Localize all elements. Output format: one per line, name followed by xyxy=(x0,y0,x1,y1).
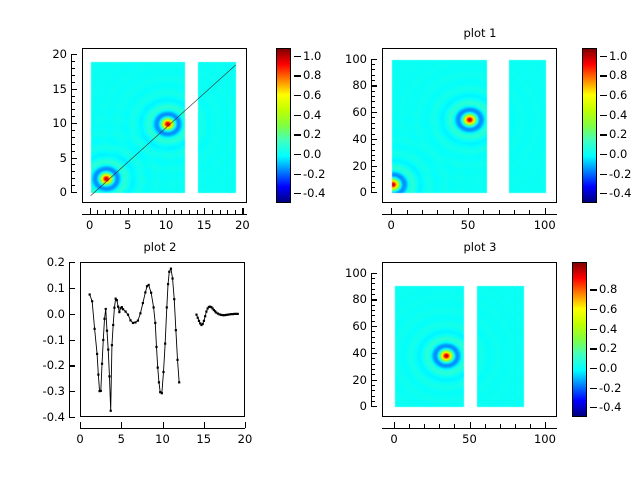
data-point-marker xyxy=(105,308,107,310)
axis-tick xyxy=(371,326,377,327)
axis-tick xyxy=(204,208,205,214)
axis-tick xyxy=(371,278,375,279)
colorbar-tick-label: 0.2 xyxy=(599,341,617,355)
axis-tick xyxy=(514,210,515,214)
axis-tick xyxy=(600,95,607,96)
axis-tick xyxy=(71,164,75,165)
data-point-marker xyxy=(137,320,139,322)
plot-2-axes xyxy=(80,262,245,417)
axis-tick xyxy=(69,365,75,366)
axis-tick xyxy=(371,91,375,92)
x-tick-label: 0 xyxy=(76,432,83,446)
axis-tick xyxy=(439,424,440,428)
subplot-panel-0: 0510152005101520 1.00.80.60.40.20.0-0.2-… xyxy=(0,0,320,240)
axis-tick xyxy=(113,210,114,214)
data-point-marker xyxy=(144,291,146,293)
data-point-marker xyxy=(122,308,124,310)
y-tick-label: 40 xyxy=(329,132,367,146)
axis-tick xyxy=(121,422,122,428)
axis-tick xyxy=(371,59,372,193)
axis-tick xyxy=(371,337,375,338)
axis-tick xyxy=(71,185,75,186)
x-tick-label: 100 xyxy=(534,218,556,232)
axis-tick xyxy=(371,107,375,108)
axis-tick xyxy=(590,289,597,290)
axis-tick xyxy=(69,391,75,392)
data-point-marker xyxy=(91,300,93,302)
x-tick-label: 15 xyxy=(196,432,211,446)
axis-tick xyxy=(294,95,301,96)
axis-tick xyxy=(371,273,372,407)
axis-tick xyxy=(71,137,75,138)
data-point-marker xyxy=(178,381,180,383)
data-point-marker xyxy=(134,321,136,323)
axis-tick xyxy=(371,123,375,124)
subplot-panel-3: plot 3 050100020406080100 0.80.60.40.20.… xyxy=(320,240,640,480)
plot-1-title: plot 1 xyxy=(320,26,640,40)
data-point-marker xyxy=(195,314,197,316)
axis-tick xyxy=(69,288,75,289)
plot-3-axes xyxy=(382,262,557,417)
axis-tick xyxy=(371,171,375,172)
colorbar-tick-label: 0.8 xyxy=(599,282,617,296)
data-point-marker xyxy=(142,302,144,304)
data-point-marker xyxy=(121,306,123,308)
x-tick-label: 20 xyxy=(235,218,250,232)
data-point-marker xyxy=(118,311,120,313)
axis-tick xyxy=(97,210,98,214)
axis-tick xyxy=(590,388,597,389)
axis-tick xyxy=(371,374,375,375)
colorbar-tick-label: 1.0 xyxy=(609,49,627,63)
axis-tick xyxy=(71,116,75,117)
x-tick-label: 50 xyxy=(461,218,476,232)
axis-tick xyxy=(371,150,375,151)
x-tick-label: 5 xyxy=(118,432,125,446)
data-point-marker xyxy=(108,375,110,377)
y-tick-label: 15 xyxy=(29,82,67,96)
axis-tick xyxy=(485,424,486,428)
axis-tick xyxy=(135,210,136,214)
plot-0-overlay-line xyxy=(83,49,247,203)
axis-tick xyxy=(371,101,375,102)
axis-tick xyxy=(590,407,597,408)
axis-tick xyxy=(71,158,77,159)
axis-tick xyxy=(468,208,469,214)
axis-tick xyxy=(371,59,377,60)
data-point-marker xyxy=(168,271,170,273)
axis-tick xyxy=(71,68,75,69)
data-point-marker xyxy=(205,310,207,312)
y-tick-label: 100 xyxy=(329,52,367,66)
axis-tick xyxy=(600,154,607,155)
axis-tick xyxy=(422,210,423,214)
y-tick-label: 0 xyxy=(329,399,367,413)
y-tick-label: 0 xyxy=(29,185,67,199)
data-point-marker xyxy=(96,353,98,355)
axis-tick xyxy=(71,54,77,55)
y-tick-label: 0.1 xyxy=(27,281,65,295)
axis-tick xyxy=(294,193,301,194)
data-point-marker xyxy=(150,292,152,294)
colorbar-tick-label: 0.6 xyxy=(599,302,617,316)
colorbar-tick-label: 1.0 xyxy=(303,49,321,63)
axis-tick xyxy=(71,109,75,110)
axis-tick xyxy=(371,187,375,188)
axis-tick xyxy=(371,396,375,397)
axis-tick xyxy=(71,123,77,124)
axis-tick xyxy=(166,208,167,214)
data-point-marker xyxy=(164,343,166,345)
axis-tick xyxy=(197,210,198,214)
axis-tick xyxy=(600,193,607,194)
axis-tick xyxy=(371,401,375,402)
axis-tick xyxy=(371,369,375,370)
axis-tick xyxy=(483,210,484,214)
data-point-marker xyxy=(103,318,105,320)
axis-tick xyxy=(371,315,375,316)
data-point-marker xyxy=(111,344,113,346)
axis-tick xyxy=(212,210,213,214)
axis-tick xyxy=(227,210,228,214)
axis-tick xyxy=(371,321,375,322)
axis-tick xyxy=(181,210,182,214)
y-tick-label: 20 xyxy=(29,47,67,61)
x-tick-label: 5 xyxy=(124,218,131,232)
data-point-marker xyxy=(197,317,199,319)
axis-tick xyxy=(71,82,75,83)
data-point-marker xyxy=(202,323,204,325)
axis-tick xyxy=(371,390,375,391)
axis-tick xyxy=(600,115,607,116)
colorbar-tick-label: -0.4 xyxy=(609,186,631,200)
plot-3-heatmap-image xyxy=(383,263,557,417)
axis-tick xyxy=(69,262,75,263)
axis-tick xyxy=(294,115,301,116)
axis-tick xyxy=(371,310,375,311)
data-point-marker xyxy=(102,339,104,341)
data-point-marker xyxy=(237,313,239,315)
data-point-marker xyxy=(124,310,126,312)
y-tick-label: 0.0 xyxy=(27,307,65,321)
colorbar-tick-label: 0.2 xyxy=(609,127,627,141)
line-series-path xyxy=(197,307,238,325)
axis-tick xyxy=(545,208,546,214)
plot-1-colorbar xyxy=(582,48,597,203)
axis-tick xyxy=(371,75,375,76)
data-point-marker xyxy=(176,359,178,361)
axis-tick xyxy=(371,139,377,140)
colorbar-tick-label: -0.2 xyxy=(599,381,621,395)
axis-tick xyxy=(371,331,375,332)
plot-0-colorbar xyxy=(276,48,291,203)
axis-tick xyxy=(371,144,375,145)
axis-tick xyxy=(371,406,377,407)
axis-tick xyxy=(371,182,375,183)
axis-tick xyxy=(470,422,471,428)
data-point-marker xyxy=(175,329,177,331)
y-tick-label: 20 xyxy=(329,159,367,173)
axis-tick xyxy=(371,358,375,359)
y-tick-label: 0 xyxy=(329,185,367,199)
axis-tick xyxy=(371,64,375,65)
x-tick-label: 50 xyxy=(462,432,477,446)
axis-tick xyxy=(382,428,557,429)
axis-tick xyxy=(174,210,175,214)
axis-tick xyxy=(69,340,75,341)
axis-tick xyxy=(371,134,375,135)
data-point-marker xyxy=(158,381,160,383)
axis-tick xyxy=(371,155,375,156)
axis-tick xyxy=(590,329,597,330)
y-tick-label: 80 xyxy=(329,78,367,92)
axis-tick xyxy=(71,61,75,62)
axis-tick xyxy=(590,348,597,349)
axis-tick xyxy=(371,112,377,113)
axis-tick xyxy=(71,130,75,131)
axis-tick xyxy=(499,210,500,214)
colorbar-tick-label: 0.4 xyxy=(599,322,617,336)
data-point-marker xyxy=(116,299,118,301)
colorbar-tick-label: 0.2 xyxy=(303,127,321,141)
axis-tick xyxy=(163,422,164,428)
axis-tick xyxy=(151,210,152,214)
axis-tick xyxy=(82,214,247,215)
data-point-marker xyxy=(129,319,131,321)
data-point-marker xyxy=(132,322,134,324)
data-point-marker xyxy=(117,306,119,308)
axis-tick xyxy=(371,80,375,81)
data-point-marker xyxy=(101,363,103,365)
axis-tick xyxy=(71,192,77,193)
data-point-marker xyxy=(154,322,156,324)
colorbar-tick-label: -0.2 xyxy=(609,167,631,181)
axis-tick xyxy=(245,422,246,428)
axis-tick xyxy=(371,342,375,343)
axis-tick xyxy=(371,385,375,386)
axis-tick xyxy=(371,192,377,193)
axis-tick xyxy=(530,424,531,428)
axis-tick xyxy=(371,364,375,365)
axis-tick xyxy=(235,210,236,214)
data-point-marker xyxy=(203,320,205,322)
x-tick-label: 0 xyxy=(388,218,395,232)
axis-tick xyxy=(69,417,75,418)
axis-tick xyxy=(294,56,301,57)
axis-tick xyxy=(294,154,301,155)
subplot-panel-1: plot 1 050100020406080100 1.00.80.60.40.… xyxy=(320,0,640,240)
plot-2-title: plot 2 xyxy=(0,240,320,254)
axis-tick xyxy=(371,305,375,306)
axis-tick xyxy=(71,89,77,90)
axis-tick xyxy=(407,210,408,214)
figure-canvas: 0510152005101520 1.00.80.60.40.20.0-0.2-… xyxy=(0,0,640,480)
axis-tick xyxy=(371,294,375,295)
colorbar-tick-label: 0.4 xyxy=(609,108,627,122)
y-tick-label: -0.1 xyxy=(27,333,65,347)
axis-tick xyxy=(371,283,375,284)
y-tick-label: 0.2 xyxy=(27,255,65,269)
y-tick-label: -0.4 xyxy=(27,410,65,424)
diagonal-reference-line xyxy=(91,65,236,196)
x-tick-label: 100 xyxy=(534,432,556,446)
axis-tick xyxy=(371,380,377,381)
y-tick-label: 5 xyxy=(29,151,67,165)
plot-0-axes xyxy=(82,48,247,203)
data-point-marker xyxy=(127,314,129,316)
axis-tick xyxy=(424,424,425,428)
colorbar-tick-label: -0.4 xyxy=(599,400,621,414)
axis-tick xyxy=(80,428,245,429)
y-tick-label: 20 xyxy=(329,373,367,387)
data-point-marker xyxy=(112,324,114,326)
data-point-marker xyxy=(204,315,206,317)
colorbar-tick-label: 0.0 xyxy=(303,147,321,161)
data-point-marker xyxy=(148,284,150,286)
y-tick-label: -0.2 xyxy=(27,358,65,372)
y-tick-label: 60 xyxy=(329,319,367,333)
axis-tick xyxy=(590,309,597,310)
x-tick-label: 10 xyxy=(155,432,170,446)
axis-tick xyxy=(590,368,597,369)
axis-tick xyxy=(294,75,301,76)
colorbar-tick-label: 0.6 xyxy=(609,88,627,102)
data-point-marker xyxy=(166,306,168,308)
plot-3-colorbar xyxy=(572,262,587,417)
axis-tick xyxy=(600,75,607,76)
data-point-marker xyxy=(139,312,141,314)
axis-tick xyxy=(71,102,75,103)
data-point-marker xyxy=(100,390,102,392)
colorbar-tick-label: 0.0 xyxy=(599,361,617,375)
axis-tick xyxy=(371,273,377,274)
axis-tick xyxy=(371,96,375,97)
y-tick-label: 100 xyxy=(329,266,367,280)
axis-tick xyxy=(105,210,106,214)
axis-tick xyxy=(515,424,516,428)
plot-1-axes xyxy=(382,48,557,203)
data-point-marker xyxy=(107,348,109,350)
x-tick-label: 0 xyxy=(86,218,93,232)
axis-tick xyxy=(371,166,377,167)
axis-tick xyxy=(71,171,75,172)
axis-tick xyxy=(242,208,243,214)
plot-2-line-series xyxy=(81,263,245,417)
y-tick-label: 40 xyxy=(329,346,367,360)
data-point-marker xyxy=(153,306,155,308)
axis-tick xyxy=(143,210,144,214)
data-point-marker xyxy=(171,277,173,279)
data-point-marker xyxy=(173,298,175,300)
colorbar-tick-label: 0.8 xyxy=(303,68,321,82)
axis-tick xyxy=(371,117,375,118)
x-tick-label: 15 xyxy=(197,218,212,232)
axis-tick xyxy=(545,422,546,428)
axis-tick xyxy=(71,75,75,76)
plot-3-title: plot 3 xyxy=(320,240,640,254)
axis-tick xyxy=(71,96,75,97)
axis-tick xyxy=(120,210,121,214)
data-point-marker xyxy=(167,283,169,285)
axis-tick xyxy=(600,56,607,57)
data-point-marker xyxy=(198,320,200,322)
data-point-marker xyxy=(106,330,108,332)
axis-tick xyxy=(371,85,377,86)
axis-tick xyxy=(371,176,375,177)
y-tick-label: -0.3 xyxy=(27,384,65,398)
axis-tick xyxy=(453,210,454,214)
axis-tick xyxy=(69,314,75,315)
data-point-marker xyxy=(170,268,172,270)
data-point-marker xyxy=(157,367,159,369)
data-point-marker xyxy=(162,371,164,373)
axis-tick xyxy=(71,144,75,145)
data-point-marker xyxy=(97,374,99,376)
axis-tick xyxy=(371,160,375,161)
axis-tick xyxy=(71,151,75,152)
y-tick-label: 60 xyxy=(329,105,367,119)
colorbar-tick-label: 0.4 xyxy=(303,108,321,122)
axis-tick xyxy=(500,424,501,428)
axis-tick xyxy=(394,422,395,428)
x-tick-label: 0 xyxy=(390,432,397,446)
subplot-panel-2: plot 2 051015200.20.10.0-0.1-0.2-0.3-0.4 xyxy=(0,240,320,480)
axis-tick xyxy=(158,210,159,214)
axis-tick xyxy=(294,174,301,175)
axis-tick xyxy=(371,289,375,290)
data-point-marker xyxy=(113,307,115,309)
data-point-marker xyxy=(161,392,163,394)
colorbar-tick-label: 0.0 xyxy=(609,147,627,161)
axis-tick xyxy=(382,214,557,215)
data-point-marker xyxy=(94,328,96,330)
axis-tick xyxy=(454,424,455,428)
axis-tick xyxy=(294,134,301,135)
data-point-marker xyxy=(155,346,157,348)
axis-tick xyxy=(371,353,377,354)
y-tick-label: 80 xyxy=(329,292,367,306)
axis-tick xyxy=(371,299,377,300)
axis-tick xyxy=(90,208,91,214)
x-tick-label: 10 xyxy=(159,218,174,232)
axis-tick xyxy=(71,178,75,179)
axis-tick xyxy=(204,422,205,428)
axis-tick xyxy=(189,210,190,214)
axis-tick xyxy=(529,210,530,214)
axis-tick xyxy=(437,210,438,214)
axis-tick xyxy=(371,348,375,349)
axis-tick xyxy=(600,134,607,135)
y-tick-label: 10 xyxy=(29,116,67,130)
colorbar-tick-label: 0.8 xyxy=(609,68,627,82)
axis-tick xyxy=(409,424,410,428)
data-point-marker xyxy=(89,293,91,295)
axis-tick xyxy=(80,422,81,428)
data-point-marker xyxy=(110,410,112,412)
axis-tick xyxy=(371,69,375,70)
axis-tick xyxy=(371,128,375,129)
axis-tick xyxy=(128,208,129,214)
axis-tick xyxy=(391,208,392,214)
colorbar-tick-label: 0.6 xyxy=(303,88,321,102)
axis-tick xyxy=(220,210,221,214)
x-tick-label: 20 xyxy=(238,432,253,446)
plot-1-heatmap-image xyxy=(383,49,557,203)
axis-tick xyxy=(600,174,607,175)
